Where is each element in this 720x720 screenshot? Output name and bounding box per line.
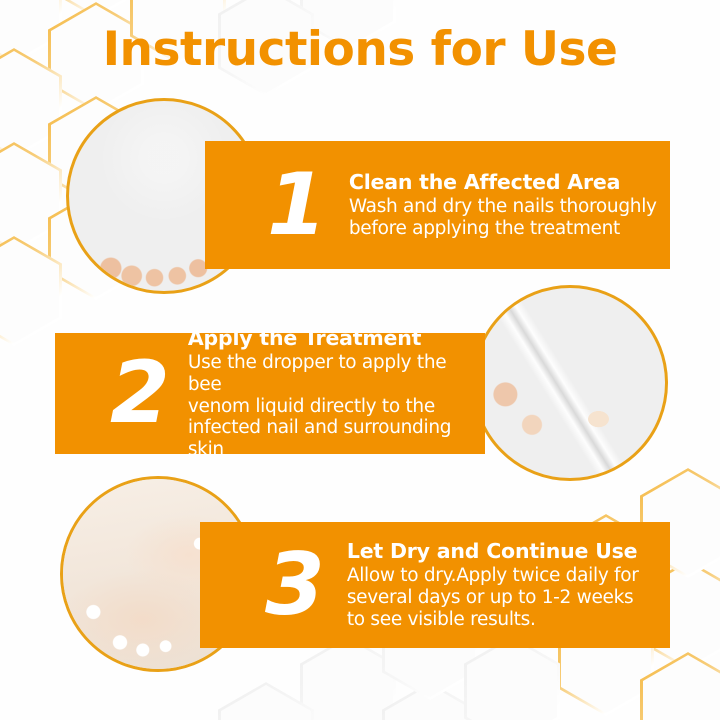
hexagon-decor xyxy=(218,682,314,720)
step-3-line-2: several days or up to 1-2 weeks xyxy=(347,587,639,609)
step-1-line-2: before applying the treatment xyxy=(349,218,657,240)
step-1-line-1: Wash and dry the nails thoroughly xyxy=(349,196,657,218)
step-2-line-3: infected nail and surrounding skin xyxy=(188,417,485,461)
hexagon-decor xyxy=(300,636,396,720)
hexagon-decor xyxy=(48,0,144,18)
hexagon-decor xyxy=(382,682,478,720)
step-3-heading: Let Dry and Continue Use xyxy=(347,539,639,563)
step-2-copy: Apply the Treatment Use the dropper to a… xyxy=(188,326,485,461)
step-2-heading: Apply the Treatment xyxy=(188,326,485,350)
step-1-copy: Clean the Affected Area Wash and dry the… xyxy=(349,170,657,240)
hexagon-decor xyxy=(0,142,62,252)
step-1-heading: Clean the Affected Area xyxy=(349,170,657,194)
step-2-line-1: Use the dropper to apply the bee xyxy=(188,352,485,396)
instructions-infographic: Instructions for Use 1 Clean the Affecte… xyxy=(0,0,720,720)
step-1-number: 1 xyxy=(267,170,327,241)
step-3-panel: 3 Let Dry and Continue Use Allow to dry.… xyxy=(200,522,670,648)
step-3-line-3: to see visible results. xyxy=(347,609,639,631)
step-3-copy: Let Dry and Continue Use Allow to dry.Ap… xyxy=(347,539,639,630)
hexagon-decor xyxy=(464,636,560,720)
step-2-line-2: venom liquid directly to the xyxy=(188,396,485,418)
page-title: Instructions for Use xyxy=(0,22,720,77)
step-1-panel: 1 Clean the Affected Area Wash and dry t… xyxy=(205,141,670,269)
hexagon-decor xyxy=(640,652,720,720)
hexagon-decor xyxy=(0,236,62,346)
step-3-line-1: Allow to dry.Apply twice daily for xyxy=(347,565,639,587)
step-2-panel: 2 Apply the Treatment Use the dropper to… xyxy=(55,333,485,454)
step-3-number: 3 xyxy=(265,550,325,621)
step-2-photo-image xyxy=(475,288,665,478)
step-2-number: 2 xyxy=(110,358,170,429)
step-2-photo xyxy=(472,285,668,481)
